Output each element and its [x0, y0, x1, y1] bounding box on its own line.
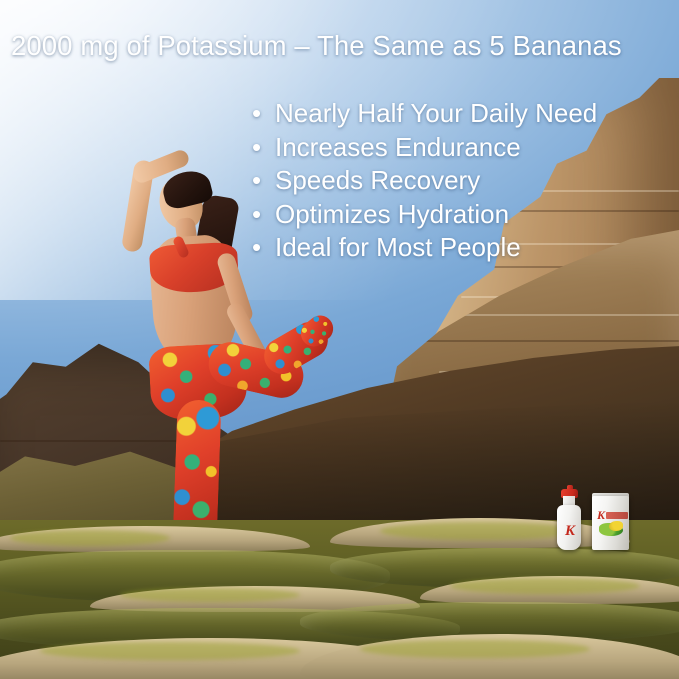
list-item: • Ideal for Most People — [252, 231, 597, 265]
pouch-fruit-graphic — [609, 521, 623, 531]
list-item: • Speeds Recovery — [252, 164, 597, 198]
benefit-text: Increases Endurance — [275, 131, 521, 165]
headline: 2000 mg of Potassium – The Same as 5 Ban… — [11, 30, 622, 62]
bullet-marker-icon: • — [252, 231, 275, 265]
list-item: • Optimizes Hydration — [252, 198, 597, 232]
pouch-wordmark — [606, 512, 628, 519]
list-item: • Nearly Half Your Daily Need — [252, 97, 597, 131]
bullet-marker-icon: • — [252, 131, 275, 165]
bullet-marker-icon: • — [252, 198, 275, 232]
list-item: • Increases Endurance — [252, 131, 597, 165]
benefit-text: Nearly Half Your Daily Need — [275, 97, 597, 131]
benefit-text: Speeds Recovery — [275, 164, 480, 198]
bottle-logo-k: K — [563, 522, 577, 540]
bullet-marker-icon: • — [252, 164, 275, 198]
benefit-text: Ideal for Most People — [275, 231, 521, 265]
benefit-list: • Nearly Half Your Daily Need • Increase… — [252, 97, 597, 265]
bullet-marker-icon: • — [252, 97, 275, 131]
benefit-text: Optimizes Hydration — [275, 198, 509, 232]
promotional-image: K K 2000 mg of Potassium – The Same as 5… — [0, 0, 679, 679]
